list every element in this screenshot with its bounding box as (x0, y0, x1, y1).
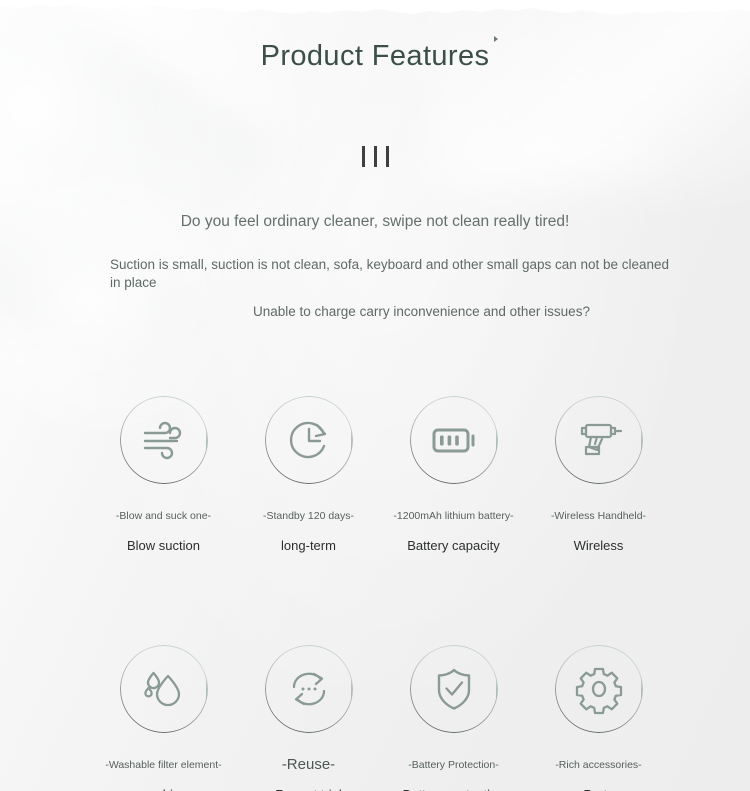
feature-caption-small: -Standby 120 days- (236, 509, 381, 523)
divider-bar (362, 146, 365, 167)
recycle-arrows-icon (283, 663, 335, 715)
feature-icon-circle (555, 645, 643, 733)
feature-icon-circle (120, 645, 208, 733)
gear-icon (573, 663, 625, 715)
page-title: Product Features (0, 36, 750, 76)
feature-cell-blow-suction[interactable]: -Blow and suck one- Blow suction (91, 396, 236, 554)
feature-caption-large: Repeat trial (236, 787, 381, 791)
feature-caption-small: -Rich accessories- (526, 758, 671, 772)
feature-caption-small: -1200mAh lithium battery- (381, 509, 526, 523)
cordless-drill-icon (573, 414, 625, 466)
feature-caption-large: Parts (526, 787, 671, 791)
feature-caption-large: long-term (236, 538, 381, 554)
feature-caption-large: Battery protection (381, 787, 526, 791)
battery-icon (428, 414, 480, 466)
feature-icon-circle (120, 396, 208, 484)
feature-cell-washing[interactable]: -Washable filter element- washing (91, 645, 236, 791)
intro-pain-point-1: Suction is small, suction is not clean, … (110, 256, 670, 292)
feature-grid: -Blow and suck one- Blow suction -Standb… (91, 396, 671, 791)
feature-caption-small: -Battery Protection- (381, 758, 526, 772)
divider-bars (0, 146, 750, 167)
divider-bar (386, 146, 389, 167)
feature-caption-large: Wireless (526, 538, 671, 554)
caret-right-icon (494, 36, 498, 42)
feature-icon-circle (410, 396, 498, 484)
intro-pain-point-2: Unable to charge carry inconvenience and… (253, 303, 673, 321)
wind-blow-icon (139, 415, 189, 465)
feature-cell-long-term[interactable]: -Standby 120 days- long-term (236, 396, 381, 554)
feature-caption-large: Battery capacity (381, 538, 526, 554)
feature-cell-battery-capacity[interactable]: -1200mAh lithium battery- Battery capaci… (381, 396, 526, 554)
product-features-page: Product Features Do you feel ordinary cl… (0, 0, 750, 791)
feature-caption-small: -Reuse- (236, 758, 381, 772)
divider-bar (374, 146, 377, 167)
feature-icon-circle (410, 645, 498, 733)
feature-icon-circle (265, 396, 353, 484)
feature-row-2: -Washable filter element- washing -Reu (91, 645, 671, 791)
feature-cell-battery-protection[interactable]: -Battery Protection- Battery protection (381, 645, 526, 791)
feature-icon-circle (265, 645, 353, 733)
feature-cell-parts[interactable]: -Rich accessories- Parts (526, 645, 671, 791)
feature-row-1: -Blow and suck one- Blow suction -Standb… (91, 396, 671, 554)
feature-caption-small: -Blow and suck one- (91, 509, 236, 523)
feature-caption-large: washing (91, 787, 236, 791)
water-droplets-icon (139, 664, 189, 714)
feature-icon-circle (555, 396, 643, 484)
feature-cell-wireless[interactable]: -Wireless Handheld- Wireless (526, 396, 671, 554)
feature-caption-large: Blow suction (91, 538, 236, 554)
feature-caption-small: -Washable filter element- (91, 758, 236, 772)
intro-lead-text: Do you feel ordinary cleaner, swipe not … (0, 211, 750, 233)
shield-check-icon (429, 664, 479, 714)
feature-cell-repeat-trial[interactable]: -Reuse- Repeat trial (236, 645, 381, 791)
clock-rotate-icon (284, 415, 334, 465)
feature-caption-small: -Wireless Handheld- (526, 509, 671, 523)
page-header: Product Features (0, 36, 750, 76)
